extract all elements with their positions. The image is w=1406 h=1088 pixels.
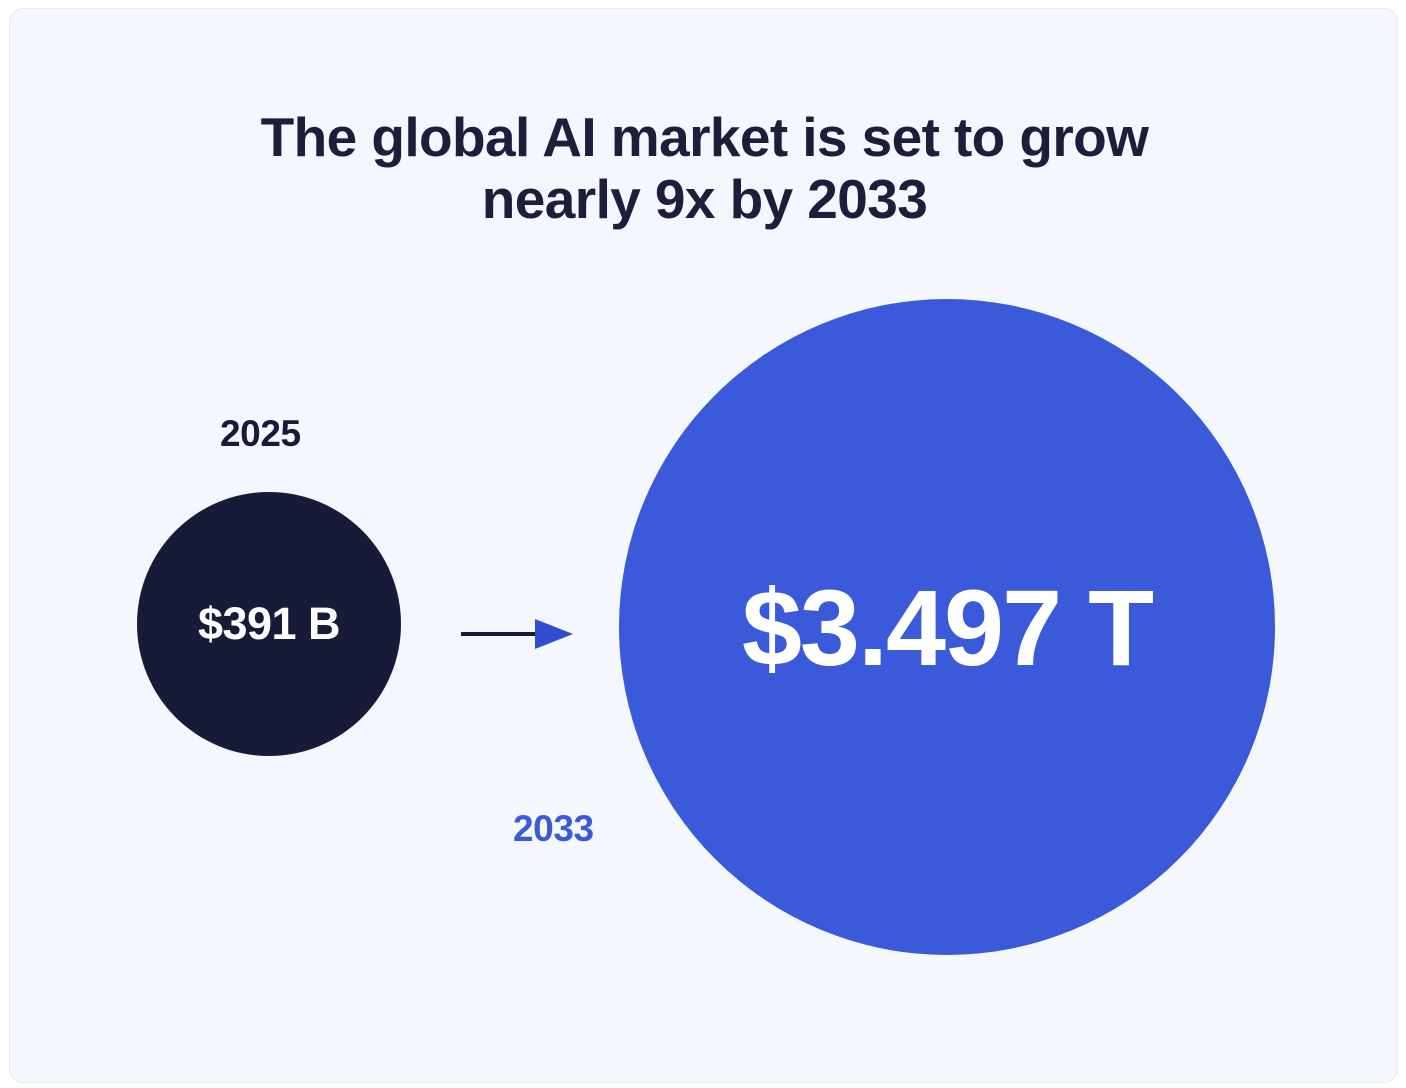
- year-label-2025: 2025: [220, 413, 301, 455]
- bubble-2033: $3.497 T: [619, 299, 1275, 955]
- right-arrow-icon: [453, 611, 583, 657]
- bubble-2025-value: $391 B: [198, 598, 340, 650]
- bubble-2025: $391 B: [137, 492, 401, 756]
- year-label-2033: 2033: [513, 808, 594, 850]
- infographic-card: The global AI market is set to grow near…: [9, 8, 1398, 1083]
- bubble-2033-value: $3.497 T: [742, 565, 1152, 690]
- bubble-chart-plot-area: 2025 $391 B $3.497 T 2033: [10, 9, 1398, 1083]
